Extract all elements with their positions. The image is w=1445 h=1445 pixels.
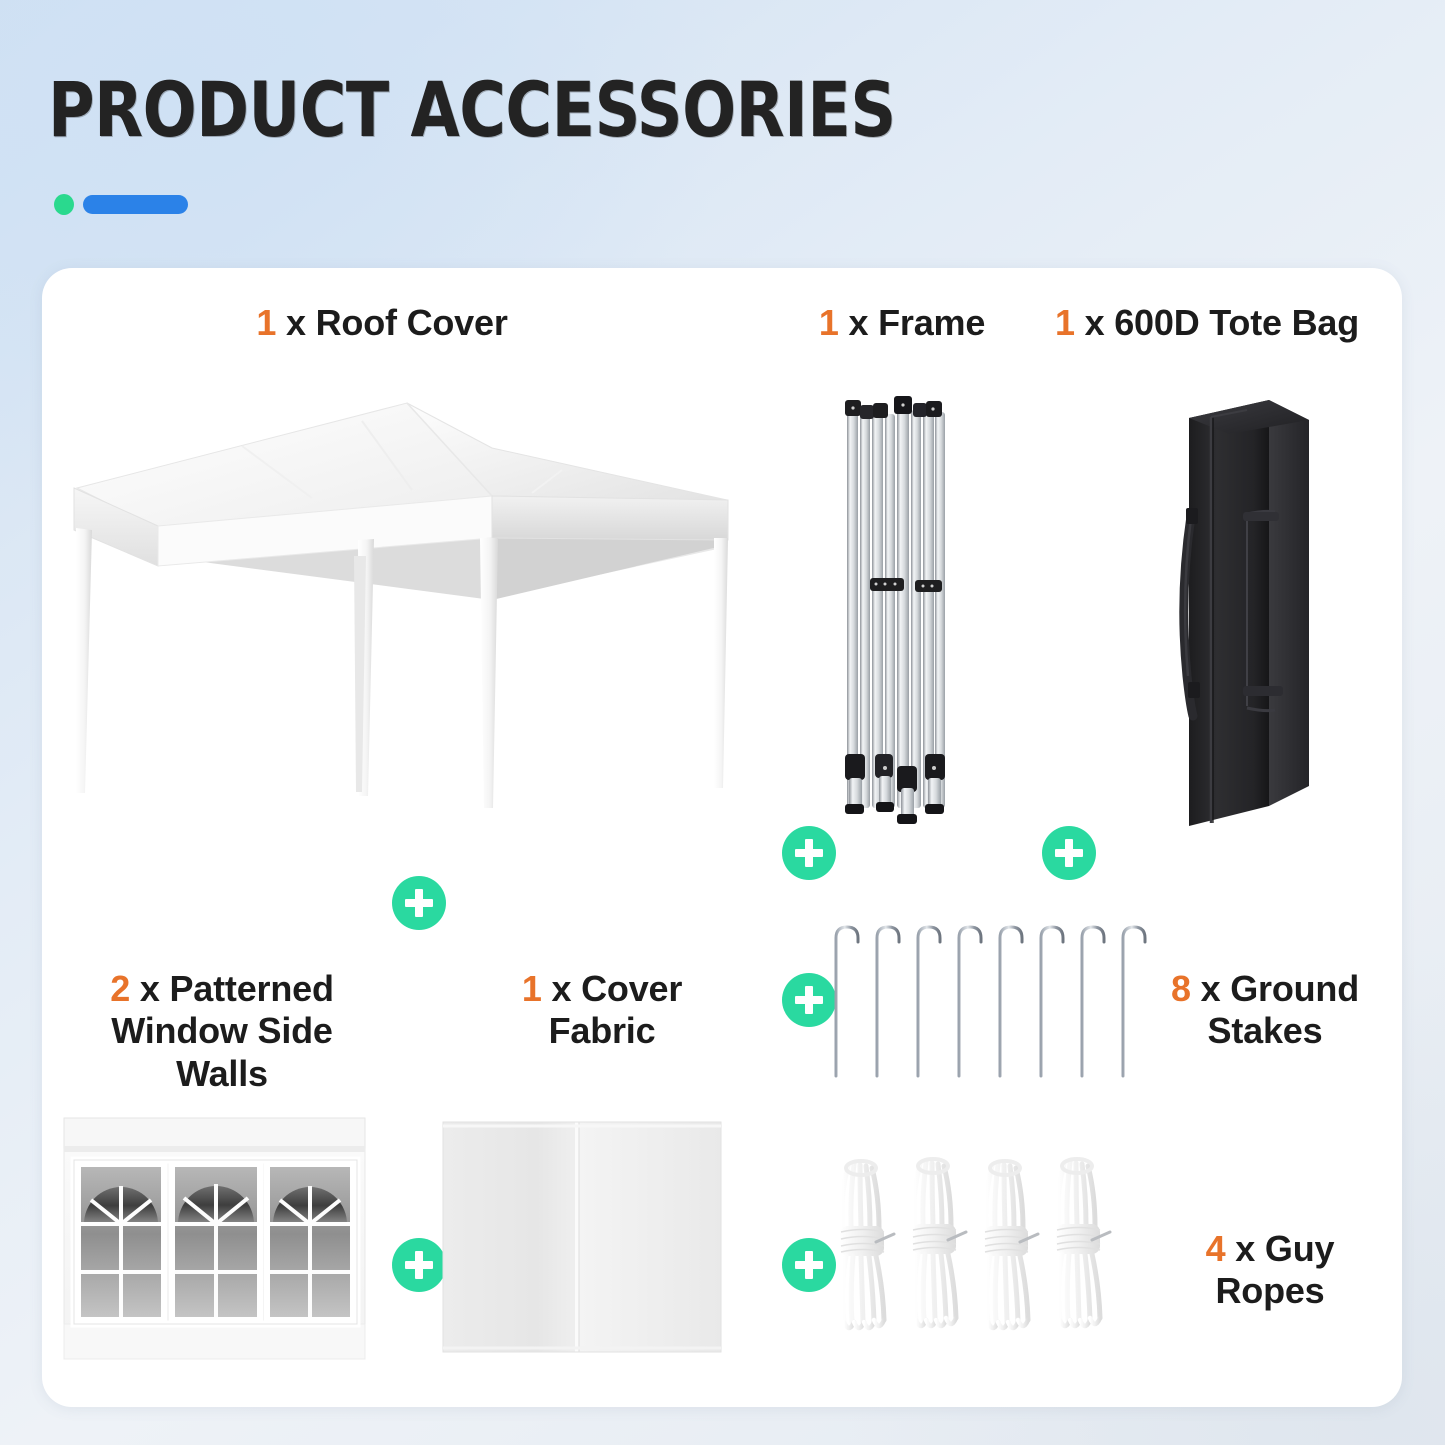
canopy-gazebo-image: [62, 388, 762, 838]
name-cover-fabric-line1: Cover: [581, 968, 682, 1009]
qty-ground-stakes: 8: [1171, 968, 1191, 1009]
name-side-walls-line2: Window Side: [111, 1010, 332, 1051]
multiplier-cover-fabric: x: [542, 968, 581, 1009]
name-ground-stakes-line1: Ground: [1230, 968, 1359, 1009]
side-wall-image: [62, 1116, 367, 1361]
qty-side-walls: 2: [110, 968, 130, 1009]
name-side-walls-line1: Patterned: [170, 968, 334, 1009]
label-ground-stakes: 8 x Ground Stakes: [1120, 968, 1402, 1053]
ground-stakes-image: [820, 916, 1150, 1091]
accent-bar-icon: [83, 195, 188, 214]
multiplier-ground-stakes: x: [1191, 968, 1230, 1009]
name-ground-stakes-line2: Stakes: [1208, 1010, 1323, 1051]
multiplier-tote-bag: x: [1075, 302, 1114, 343]
multiplier-side-walls: x: [130, 968, 169, 1009]
name-side-walls-line3: Walls: [176, 1053, 268, 1094]
name-tote-bag: 600D Tote Bag: [1114, 302, 1359, 343]
name-cover-fabric-line2: Fabric: [549, 1010, 656, 1051]
label-cover-fabric: 1 x Cover Fabric: [442, 968, 762, 1053]
accent-underline: [54, 194, 1388, 215]
accessories-card: 1 x Roof Cover 1 x Frame 1 x 600D Tote B…: [42, 268, 1402, 1407]
multiplier-roof-cover: x: [276, 302, 315, 343]
multiplier-guy-ropes: x: [1225, 1228, 1264, 1269]
label-tote-bag: 1 x 600D Tote Bag: [1027, 302, 1387, 344]
page-header: PRODUCT ACCESSORIES: [48, 72, 1388, 215]
accent-dot-icon: [54, 194, 74, 215]
label-guy-ropes: 4 x Guy Ropes: [1140, 1228, 1400, 1313]
plus-icon: [392, 876, 446, 930]
qty-guy-ropes: 4: [1206, 1228, 1226, 1269]
plus-icon: [782, 1238, 836, 1292]
name-frame: Frame: [878, 302, 985, 343]
name-guy-ropes-line1: Guy: [1265, 1228, 1334, 1269]
cover-fabric-image: [437, 1106, 727, 1368]
plus-icon: [1042, 826, 1096, 880]
label-frame: 1 x Frame: [742, 302, 1062, 344]
multiplier-frame: x: [839, 302, 878, 343]
guy-ropes-image: [832, 1156, 1132, 1341]
folded-frame-image: [827, 386, 967, 841]
label-side-walls: 2 x Patterned Window Side Walls: [62, 968, 382, 1095]
name-roof-cover: Roof Cover: [316, 302, 508, 343]
label-roof-cover: 1 x Roof Cover: [192, 302, 572, 344]
qty-frame: 1: [819, 302, 839, 343]
qty-roof-cover: 1: [256, 302, 276, 343]
qty-tote-bag: 1: [1055, 302, 1075, 343]
name-guy-ropes-line2: Ropes: [1215, 1270, 1324, 1311]
qty-cover-fabric: 1: [522, 968, 542, 1009]
tote-bag-image: [1177, 386, 1322, 841]
page-title: PRODUCT ACCESSORIES: [48, 72, 1294, 148]
